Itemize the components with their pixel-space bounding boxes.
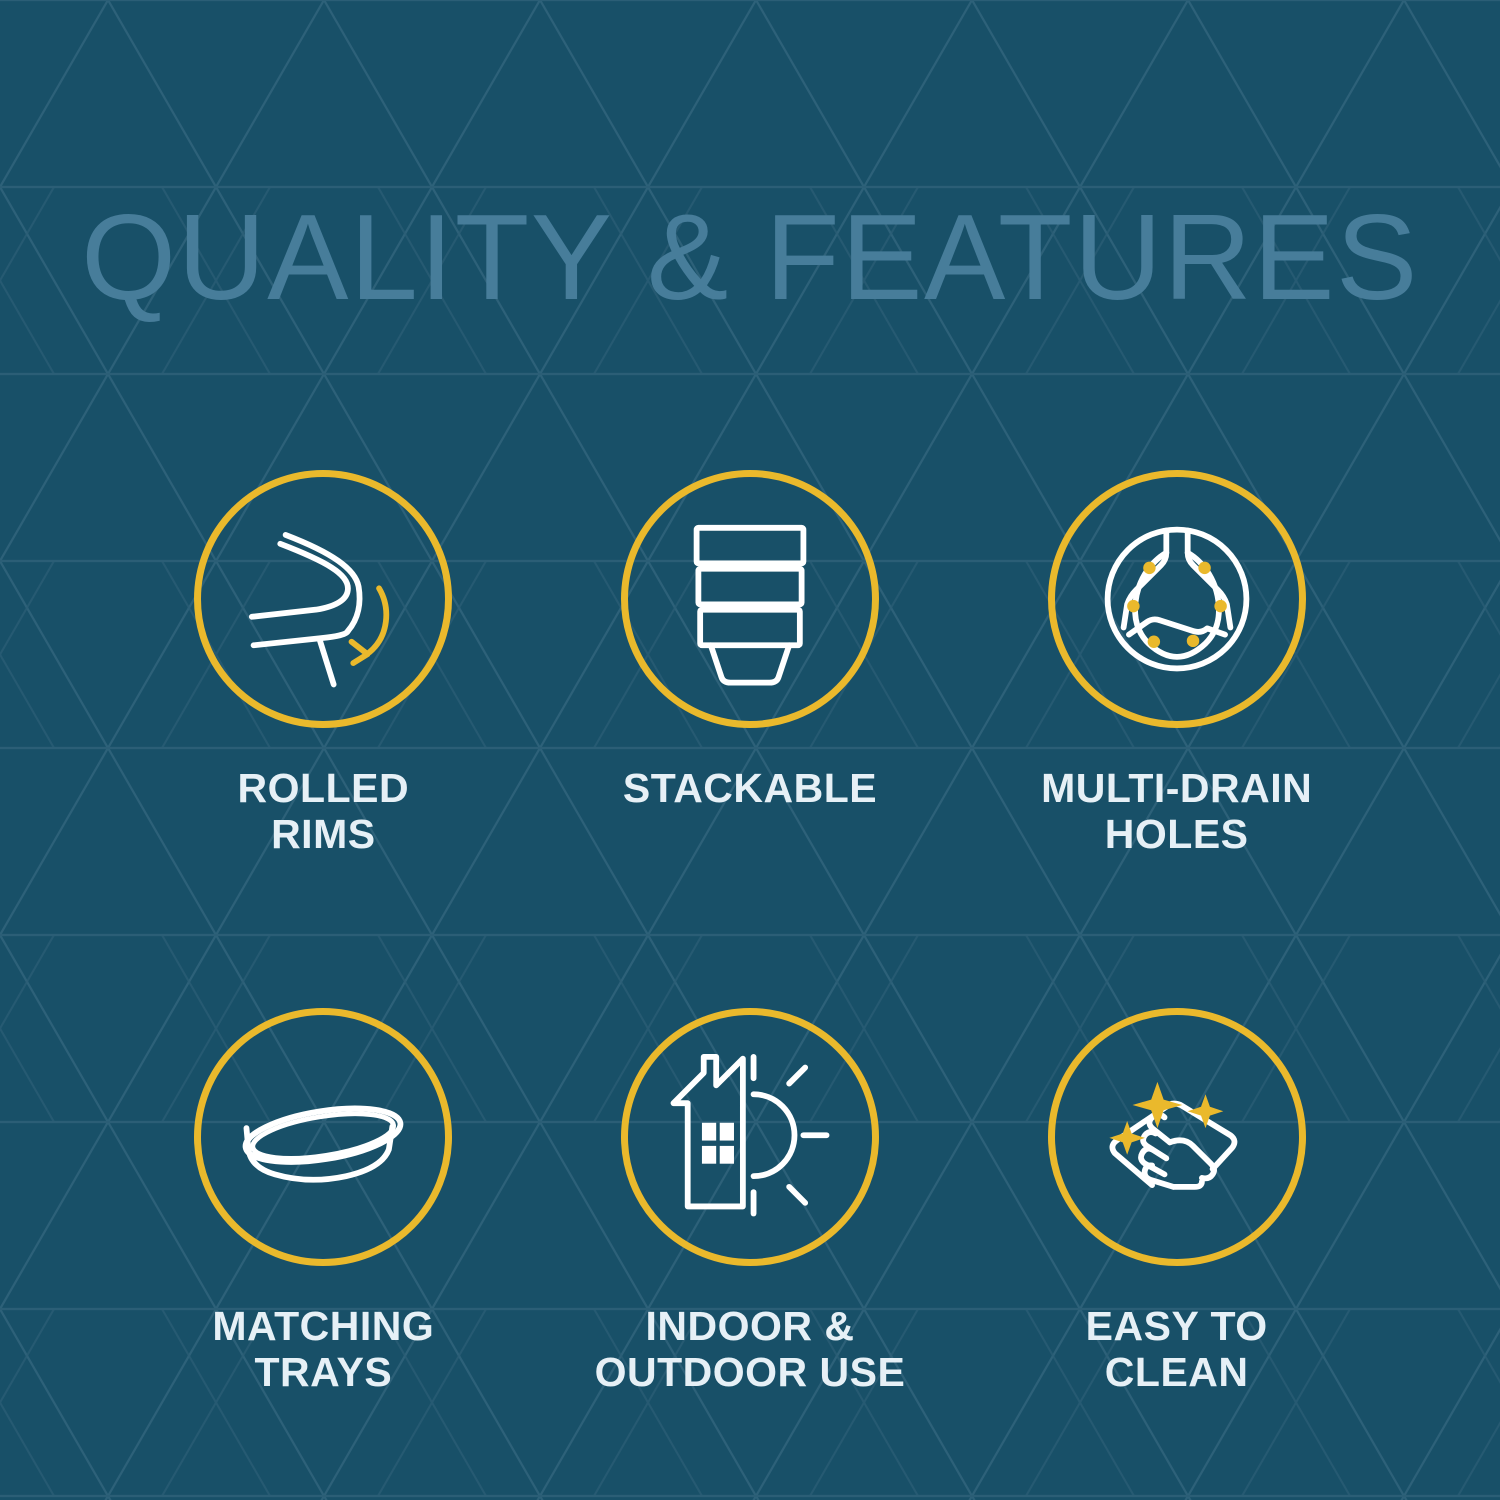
feature-label: MATCHING TRAYS xyxy=(212,1304,434,1396)
feature-matching-trays[interactable]: MATCHING TRAYS xyxy=(110,1008,537,1396)
feature-label: MULTI-DRAIN HOLES xyxy=(1041,766,1312,858)
icon-ring xyxy=(1048,470,1306,728)
icon-ring xyxy=(194,1008,452,1266)
feature-stackable[interactable]: STACKABLE xyxy=(537,470,964,858)
drain-holes-icon xyxy=(1088,510,1266,688)
feature-label: EASY TO CLEAN xyxy=(1086,1304,1268,1396)
feature-label: INDOOR & OUTDOOR USE xyxy=(595,1304,906,1396)
icon-ring xyxy=(621,470,879,728)
feature-grid: ROLLED RIMS STACKABLE xyxy=(110,470,1390,1396)
oval-tray-icon xyxy=(234,1048,412,1226)
feature-label: STACKABLE xyxy=(623,766,877,812)
page-title: QUALITY & FEATURES xyxy=(0,196,1500,318)
stacked-pots-icon xyxy=(661,510,839,688)
wiping-hand-sparkle-icon xyxy=(1088,1048,1266,1226)
feature-multi-drain-holes[interactable]: MULTI-DRAIN HOLES xyxy=(963,470,1390,858)
rolled-rim-icon xyxy=(234,510,412,688)
feature-rolled-rims[interactable]: ROLLED RIMS xyxy=(110,470,537,858)
feature-indoor-outdoor-use[interactable]: INDOOR & OUTDOOR USE xyxy=(537,1008,964,1396)
house-sun-icon xyxy=(661,1048,839,1226)
feature-easy-to-clean[interactable]: EASY TO CLEAN xyxy=(963,1008,1390,1396)
quality-and-features-panel: QUALITY & FEATURES ROLL xyxy=(0,0,1500,1500)
icon-ring xyxy=(194,470,452,728)
icon-ring xyxy=(1048,1008,1306,1266)
feature-label: ROLLED RIMS xyxy=(238,766,410,858)
icon-ring xyxy=(621,1008,879,1266)
